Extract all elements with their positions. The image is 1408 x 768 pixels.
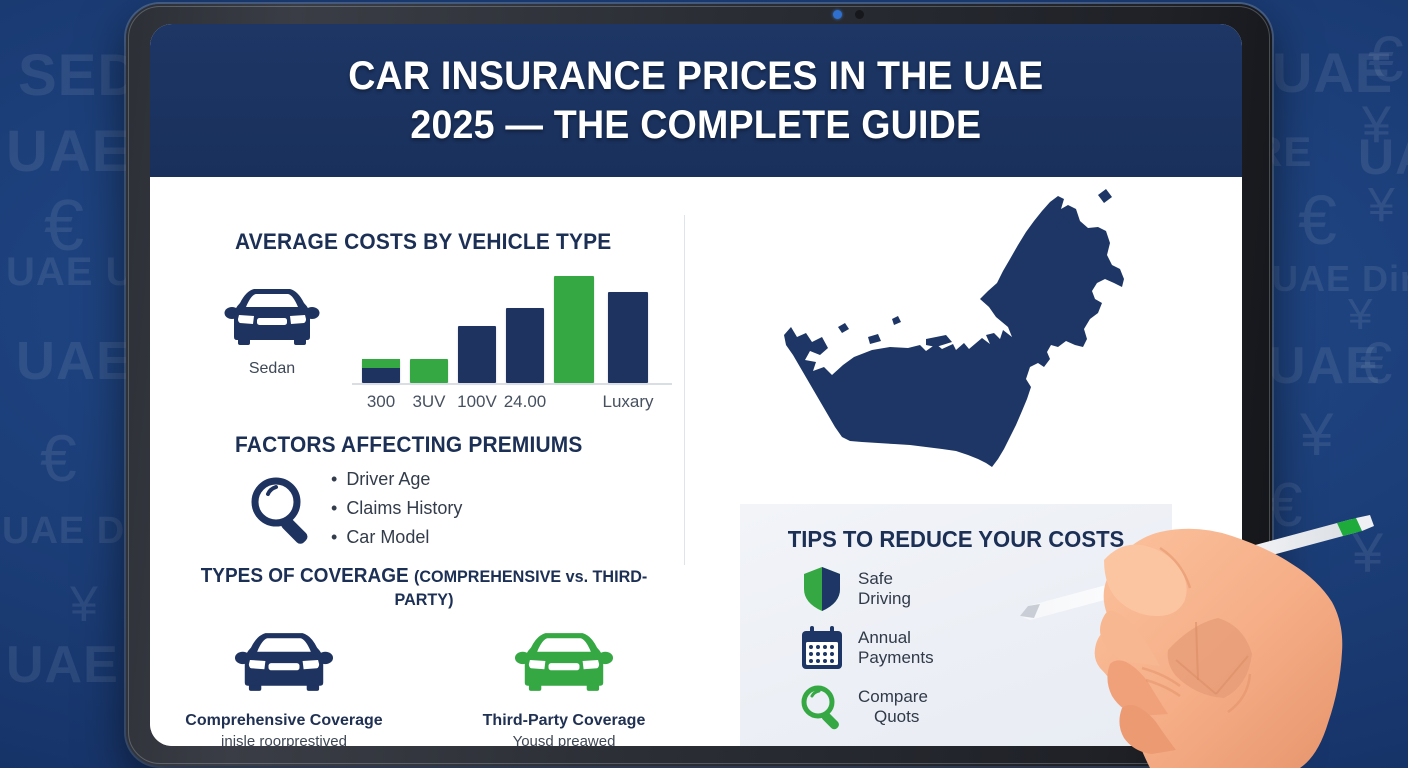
car-front-navy-icon xyxy=(232,629,336,693)
watermark-text: UAE xyxy=(16,330,133,392)
section-title-factors: FACTORS AFFECTING PREMIUMS xyxy=(235,432,653,458)
factor-item: Driver Age xyxy=(331,468,462,492)
watermark-text: ¥ xyxy=(1368,178,1396,233)
tip-line1: Safe xyxy=(858,569,893,588)
chart-bar xyxy=(608,292,648,383)
sedan-label: Sedan xyxy=(212,360,332,378)
section-factors: FACTORS AFFECTING PREMIUMS Driver AgeCla… xyxy=(235,432,675,555)
watermark-text: UAE U xyxy=(6,250,135,295)
tip-line1: Annual xyxy=(858,628,911,647)
tip-label: Safe Driving xyxy=(858,569,911,610)
car-front-green-icon xyxy=(512,629,616,693)
vehicle-cost-chart: Sedan 3003UV100V24.00Luxary xyxy=(212,265,672,410)
factor-item: Car Model xyxy=(331,526,462,550)
tip-line2: Driving xyxy=(858,589,911,609)
magnifier-green-icon-block xyxy=(794,683,850,731)
chart-baseline xyxy=(352,383,672,385)
coverage-desc-line1: inisle roorprestived xyxy=(221,733,347,746)
uae-map-silhouette-icon xyxy=(750,187,1170,487)
coverage-desc-line1: Yousd preawed xyxy=(513,733,616,746)
watermark-text: € xyxy=(40,420,78,496)
watermark-text: ¥ xyxy=(1300,400,1334,469)
tip-safe-driving: Safe Driving xyxy=(794,565,1172,613)
coverage-comprehensive: Comprehensive Coverage inisle roorpresti… xyxy=(184,629,384,746)
car-front-icon xyxy=(224,285,320,347)
title-line-1: CAR INSURANCE PRICES IN THE UAE xyxy=(348,54,1043,98)
factor-item: Claims History xyxy=(331,497,462,521)
column-divider xyxy=(684,215,685,565)
watermark-text: ¥ xyxy=(1352,520,1384,585)
magnifier-icon xyxy=(798,683,846,731)
chart-x-label: 24.00 xyxy=(497,392,553,412)
factors-list: Driver AgeClaims HistoryCar Model xyxy=(331,468,462,555)
tips-panel: TIPS TO REDUCE YOUR COSTS Safe Driving xyxy=(740,504,1172,746)
tips-title: TIPS TO REDUCE YOUR COSTS xyxy=(749,504,1164,553)
chart-bar xyxy=(362,359,400,383)
chart-bar-segment xyxy=(362,359,400,368)
tablet-screen: CAR INSURANCE PRICES IN THE UAE 2025 — T… xyxy=(150,24,1242,746)
shield-icon-block xyxy=(794,565,850,613)
section-coverage: TYPES OF COVERAGE (COMPREHENSIVE vs. THI… xyxy=(164,565,684,746)
coverage-desc: Yousd preawed Frcervarly xyxy=(464,732,664,746)
chart-bar xyxy=(410,359,448,383)
watermark-text: SED xyxy=(18,42,140,109)
magnifier-icon xyxy=(246,474,320,546)
chart-bar xyxy=(506,308,544,383)
page-title: CAR INSURANCE PRICES IN THE UAE 2025 — T… xyxy=(348,52,1043,150)
section-average-costs: AVERAGE COSTS BY VEHICLE TYPE xyxy=(235,229,665,255)
watermark-text: € xyxy=(1368,22,1405,96)
title-line-2: 2025 — THE COMPLETE GUIDE xyxy=(411,103,982,147)
calendar-icon-block xyxy=(794,625,850,671)
coverage-title-main: TYPES OF COVERAGE xyxy=(201,565,414,587)
section-title-costs: AVERAGE COSTS BY VEHICLE TYPE xyxy=(235,229,644,255)
header-banner: CAR INSURANCE PRICES IN THE UAE 2025 — T… xyxy=(150,24,1242,177)
tip-label: Annual Payments xyxy=(858,628,934,669)
sensor-dot-icon xyxy=(855,10,864,19)
watermark-text: UAE xyxy=(6,635,119,695)
watermark-text: € xyxy=(1298,180,1338,260)
watermark-text: € xyxy=(1360,330,1393,397)
tip-annual-payments: Annual Payments xyxy=(794,625,1172,671)
sedan-icon-block: Sedan xyxy=(212,285,332,378)
tip-compare-quotes: Compare Quots xyxy=(794,683,1172,731)
coverage-name: Third-Party Coverage xyxy=(464,712,664,730)
watermark-text: ¥ xyxy=(70,575,99,633)
section-title-coverage: TYPES OF COVERAGE (COMPREHENSIVE vs. THI… xyxy=(177,565,671,611)
tip-line2: Payments xyxy=(858,648,934,668)
watermark-text: UAE DirM xyxy=(1272,258,1408,300)
chart-x-axis-labels: 3003UV100V24.00Luxary xyxy=(352,390,672,412)
shield-icon xyxy=(801,565,843,613)
tip-line2: Quots xyxy=(858,707,928,727)
coverage-name: Comprehensive Coverage xyxy=(184,712,384,730)
coverage-third-party: Third-Party Coverage Yousd preawed Frcer… xyxy=(464,629,664,746)
chart-bar xyxy=(458,326,496,383)
camera-indicator-icon xyxy=(833,10,842,19)
infographic-screenshot: SEDUAE€UAE UUAE€UAE Dir¥UAEUAE€¥REUA€¥UA… xyxy=(0,0,1408,768)
bar-chart-plot: 3003UV100V24.00Luxary xyxy=(352,265,672,410)
coverage-desc: inisle roorprestived anting eplane xyxy=(184,732,384,746)
tip-line1: Compare xyxy=(858,687,928,706)
calendar-icon xyxy=(799,625,845,671)
watermark-text: UAE xyxy=(6,118,131,185)
chart-bar xyxy=(554,276,594,383)
watermark-text: € xyxy=(1268,470,1303,541)
content-area: AVERAGE COSTS BY VEHICLE TYPE xyxy=(150,177,1242,746)
coverage-title-sub: (COMPREHENSIVE vs. THIRD-PARTY) xyxy=(395,567,648,609)
chart-x-label: Luxary xyxy=(599,392,657,412)
magnifier-icon-block xyxy=(235,468,331,546)
tip-label: Compare Quots xyxy=(858,687,928,728)
uae-map-block xyxy=(750,187,1210,507)
